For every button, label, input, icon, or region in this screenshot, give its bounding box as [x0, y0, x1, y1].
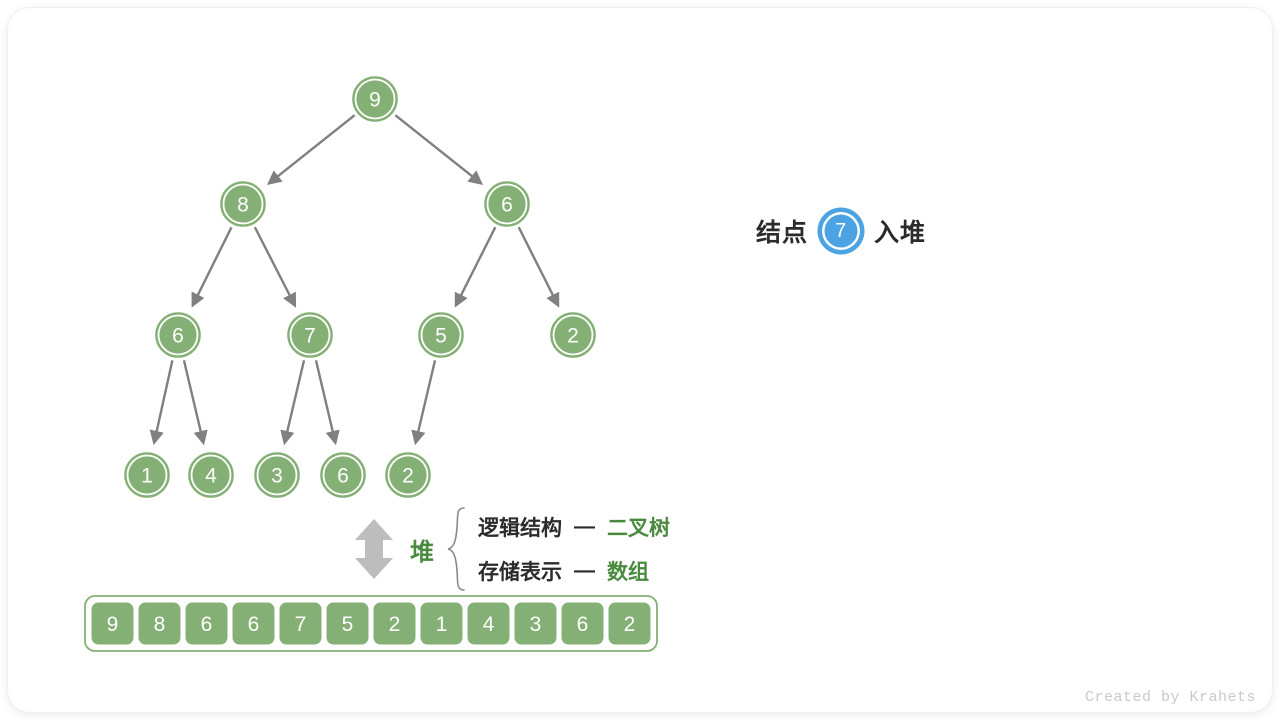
- caption-prefix: 结点: [756, 213, 808, 249]
- array-cell: 6: [232, 602, 276, 646]
- tree-node: 1: [125, 453, 169, 497]
- tree-node: 5: [419, 313, 463, 357]
- tree-node-label: 4: [205, 465, 217, 488]
- legend-term: 逻辑结构: [478, 512, 562, 542]
- tree-node: 8: [221, 182, 265, 226]
- tree-and-array-svg: 986675214362 986675214362: [0, 0, 1280, 720]
- array-cell-label: 1: [436, 613, 448, 636]
- tree-edge: [255, 227, 295, 305]
- tree-node-label: 6: [337, 465, 349, 488]
- tree-edge: [395, 115, 481, 183]
- tree-edges: [154, 115, 558, 443]
- tree-edge: [316, 360, 335, 443]
- tree-node: 2: [551, 313, 595, 357]
- legend-dash: —: [574, 515, 595, 539]
- array-cell: 9: [91, 602, 135, 646]
- diagram-canvas: 986675214362 986675214362 结点 7 入堆 堆 逻辑结构…: [0, 0, 1280, 720]
- tree-edge: [269, 115, 355, 183]
- tree-node: 6: [321, 453, 365, 497]
- tree-node: 2: [386, 453, 430, 497]
- tree-edge: [519, 227, 558, 305]
- array-cell: 6: [561, 602, 605, 646]
- array-cell: 1: [420, 602, 464, 646]
- credit-label: Created by Krahets: [1085, 689, 1256, 706]
- array-cell-label: 7: [295, 613, 307, 636]
- tree-edge: [416, 360, 435, 443]
- legend-row: 逻辑结构 — 二叉树: [478, 512, 670, 542]
- array-cell-label: 6: [248, 613, 260, 636]
- array-cell-label: 8: [154, 613, 166, 636]
- tree-node: 7: [288, 313, 332, 357]
- array-cell: 7: [279, 602, 323, 646]
- array-cell-label: 6: [201, 613, 213, 636]
- array-cell-label: 6: [577, 613, 589, 636]
- tree-node: 9: [353, 77, 397, 121]
- tree-edge: [193, 227, 232, 305]
- tree-node-label: 5: [435, 325, 447, 348]
- array-cell-label: 2: [624, 613, 636, 636]
- tree-node-label: 6: [172, 325, 184, 348]
- legend-dash: —: [574, 559, 595, 583]
- tree-node-label: 9: [369, 89, 381, 112]
- array-cell: 8: [138, 602, 182, 646]
- array-cell-label: 5: [342, 613, 354, 636]
- curly-brace-icon: [446, 506, 470, 592]
- legend-term: 存储表示: [478, 556, 562, 586]
- up-down-arrow-icon: [352, 518, 396, 580]
- tree-node: 3: [255, 453, 299, 497]
- array-cell-label: 3: [530, 613, 542, 636]
- legend-row: 存储表示 — 数组: [478, 556, 670, 586]
- tree-node: 6: [485, 182, 529, 226]
- tree-edge: [184, 360, 203, 443]
- legend-value: 二叉树: [607, 512, 670, 542]
- legend-rows: 逻辑结构 — 二叉树 存储表示 — 数组: [478, 512, 670, 586]
- tree-edge: [154, 360, 172, 442]
- tree-nodes: 986675214362: [125, 77, 595, 497]
- caption-suffix: 入堆: [874, 213, 926, 249]
- caption-banner: 结点 7 入堆: [756, 212, 926, 250]
- tree-edge: [456, 227, 495, 305]
- tree-node-label: 2: [567, 325, 579, 348]
- tree-node: 6: [156, 313, 200, 357]
- legend-value: 数组: [607, 556, 649, 586]
- caption-node-badge: 7: [822, 212, 860, 250]
- array-cell: 3: [514, 602, 558, 646]
- array-cell-label: 9: [107, 613, 119, 636]
- tree-node-label: 3: [271, 465, 283, 488]
- array-cell: 4: [467, 602, 511, 646]
- tree-node-label: 7: [304, 325, 316, 348]
- tree-node-label: 2: [402, 465, 414, 488]
- array-cell: 2: [608, 602, 652, 646]
- array-cell-label: 4: [483, 613, 495, 636]
- tree-node-label: 6: [501, 194, 513, 217]
- array-cell: 5: [326, 602, 370, 646]
- array-cell: 6: [185, 602, 229, 646]
- array-cell-label: 2: [389, 613, 401, 636]
- legend-heap-label: 堆: [410, 532, 434, 567]
- array-cells: 986675214362: [85, 596, 657, 651]
- tree-node-label: 8: [237, 194, 249, 217]
- tree-node-label: 1: [141, 465, 153, 488]
- legend-block: 堆 逻辑结构 — 二叉树 存储表示 — 数组: [352, 506, 670, 592]
- tree-node: 4: [189, 453, 233, 497]
- tree-edge: [285, 360, 304, 443]
- array-cell: 2: [373, 602, 417, 646]
